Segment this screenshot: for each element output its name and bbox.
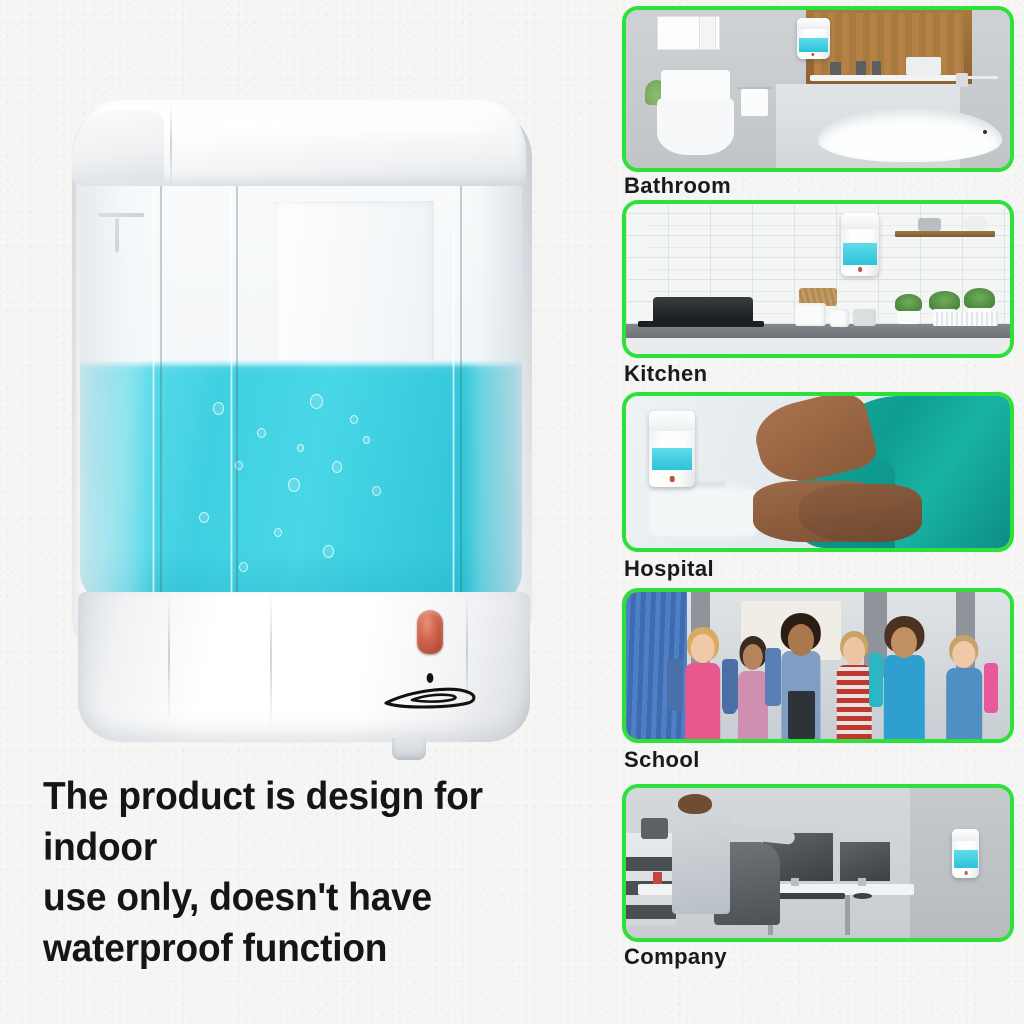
scene-dispenser-hospital [649,411,695,487]
tank-inner-cylinder [274,201,433,369]
mini-dispenser-cap [952,829,979,842]
bathroom-towel-stack [906,57,941,74]
school-backpack [667,659,683,712]
mini-dispenser-led [812,53,815,56]
school-child-face [952,641,975,668]
mini-dispenser-liquid [954,850,978,868]
product-showcase: The product is design for indoor use onl… [0,0,612,1024]
bathroom-hand-towel [741,89,768,116]
school-child-face [891,627,917,658]
company-mouse [853,893,872,899]
kitchen-canister [830,309,849,327]
mini-dispenser-liquid [799,38,828,52]
company-shelf-row [626,905,676,919]
bathroom-toilet-tank [661,70,730,102]
scene-card-hospital[interactable] [622,392,1014,552]
kitchen-utensil-crock [795,303,826,326]
scene-dispenser-kitchen [841,213,879,276]
school-child [768,613,833,739]
company-employee [672,797,730,914]
scene-frame-kitchen [622,200,1014,358]
caption-line-1: The product is design for indoor [43,772,575,873]
bubble [310,394,323,409]
body-seam [168,592,170,718]
scene-label-school: School [624,747,700,773]
bubble [213,402,224,415]
scene-label-kitchen: Kitchen [624,361,707,387]
scene-frame-bathroom [622,6,1014,172]
school-backpack [723,667,736,714]
caption-line-2: use only, doesn't have [43,873,575,924]
company-monitor-stand [858,878,866,886]
bubble [257,428,266,438]
mini-dispenser-liquid [652,448,693,471]
school-child [872,616,937,739]
scene-label-hospital: Hospital [624,556,714,582]
school-notebook [788,691,815,739]
kitchen-shelf-ornament [964,216,987,231]
product-hero-image [62,92,540,672]
tank-rib [152,184,155,604]
tank-seam [236,184,238,604]
bubble [199,512,209,523]
company-desk-leg [845,895,850,936]
bathroom-shelf [810,75,967,81]
cap-left-section [72,110,164,182]
company-employee-head [678,794,713,814]
scene-dispenser-bathroom [797,18,830,59]
kitchen-plant-pot [897,311,920,325]
tank-right-highlight [464,184,522,604]
kitchen-toaster [653,297,753,324]
tank-seam [460,184,462,604]
cap-seam-line [170,104,172,184]
product-disclaimer-caption: The product is design for indoor use onl… [43,772,575,975]
bubble [350,415,358,424]
school-child-shirt [946,668,982,739]
tank-rib [452,184,455,604]
bathroom-toilet-bowl [657,98,734,155]
mini-dispenser-led [858,267,862,272]
mini-dispenser-led [670,476,675,482]
school-child-shirt [738,671,768,739]
dispenser-lower-front [78,592,530,742]
scene-frame-company [622,784,1014,942]
bubble [363,436,370,444]
body-seam [270,592,272,724]
kitchen-plant-rack [933,312,998,326]
soap-dispensing-nozzle [392,738,426,760]
tank-rib [230,184,233,604]
scene-frame-hospital [622,392,1014,552]
kitchen-plant [929,291,960,311]
cap-gloss-highlight [116,116,496,142]
usage-scenes-list: Bathroom [618,0,1024,1024]
school-child [933,630,994,739]
school-child-face [788,624,814,656]
school-backpack [869,653,883,707]
school-backpack [984,663,999,713]
mini-dispenser-led [965,871,968,875]
scene-frame-school [622,588,1014,743]
school-child-shirt [685,663,721,739]
company-monitor-stand [791,878,799,886]
sensor-led-indicator [417,610,443,654]
tank-left-highlight [80,184,156,604]
kitchen-shelf-decor [918,218,941,232]
kitchen-toaster-tray [638,321,765,327]
bathroom-bottle [872,61,882,77]
mini-dispenser-cap [797,18,830,29]
page-stage: The product is design for indoor use onl… [0,0,1024,1024]
bubble [297,444,304,452]
tank-seam [160,184,162,604]
kitchen-plant [964,288,995,309]
scene-label-company: Company [624,944,727,970]
company-shelf-row [626,857,676,871]
company-storage-box [641,818,668,839]
school-child-face [844,637,866,665]
scene-card-school[interactable] [622,588,1014,743]
hospital-sink [649,490,757,536]
bathroom-mirror-panel [699,16,716,50]
kitchen-wall-shelf [895,231,995,237]
school-backpack [765,648,781,706]
scene-card-company[interactable] [622,784,1014,942]
hand-under-sensor-icon [378,672,490,716]
kitchen-counter-front [626,338,1010,355]
kitchen-jar [853,309,876,326]
scene-card-kitchen[interactable] [622,200,1014,358]
school-child-striped-shirt [837,665,872,739]
mini-dispenser-liquid [843,243,877,264]
bubble [288,478,300,492]
dispenser-transparent-tank [80,184,522,604]
scene-dispenser-company [952,829,979,879]
scene-label-bathroom: Bathroom [624,173,731,199]
school-child-shirt [884,655,924,739]
mini-dispenser-cap [649,411,695,431]
bathroom-bottle [856,61,866,77]
bathroom-faucet-head [956,73,968,87]
hospital-hand-second [799,484,922,542]
caption-line-3: waterproof function [43,924,575,975]
scene-card-bathroom[interactable] [622,6,1014,172]
school-child-face [691,634,716,664]
mini-dispenser-cap [841,213,879,229]
kitchen-plant [895,294,922,312]
